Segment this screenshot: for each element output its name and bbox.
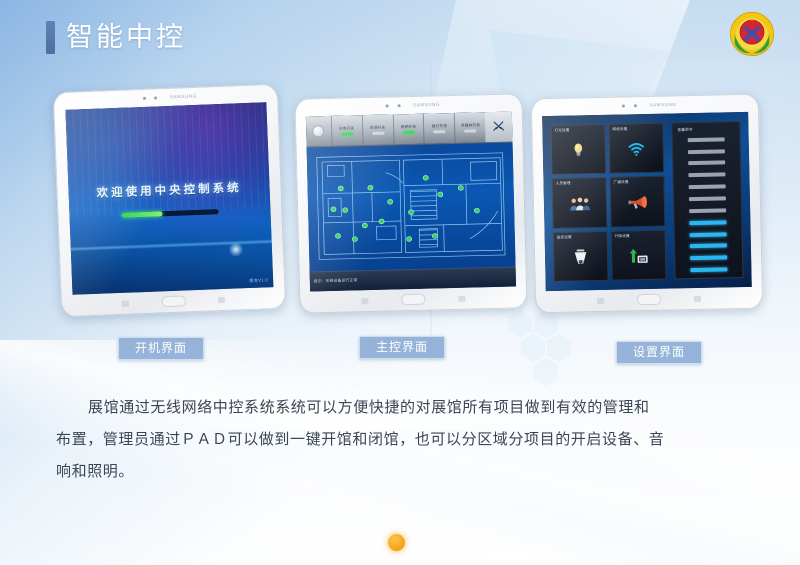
camera-dot xyxy=(622,104,625,107)
volume-segment[interactable] xyxy=(690,220,726,225)
people-icon xyxy=(569,195,591,211)
caption-main-control: 主控界面 xyxy=(359,336,445,359)
floorplan-map[interactable] xyxy=(313,147,509,267)
back-key[interactable] xyxy=(694,296,701,302)
volume-segment[interactable] xyxy=(688,137,724,142)
tab-label: 总电开关 xyxy=(339,126,355,132)
floorplan-svg xyxy=(313,147,509,267)
boot-spark-icon xyxy=(227,241,244,258)
home-button[interactable] xyxy=(401,294,425,306)
camera-icon xyxy=(571,248,590,265)
tile-label: 人员管理 xyxy=(556,181,571,187)
footer-left-text: 平安交通 xyxy=(265,530,385,555)
tab-indicator xyxy=(434,130,446,133)
volume-segment[interactable] xyxy=(690,244,726,249)
paragraph-line-3: 响和照明。 xyxy=(56,464,134,480)
volume-segment[interactable] xyxy=(688,149,724,154)
tablet-screen[interactable]: 欢迎使用中央控制系统 版本V1.0 xyxy=(65,102,273,295)
traffic-police-emblem-icon: 中国交 xyxy=(728,10,776,58)
volume-segment[interactable] xyxy=(689,173,725,178)
tab-multimedia[interactable]: 多媒体开关 xyxy=(454,112,486,142)
recent-apps-key[interactable] xyxy=(597,298,604,304)
light-bulb-icon xyxy=(570,141,587,158)
sensor-dot xyxy=(154,96,157,99)
settings-layout: 灯光设置 网络设置 xyxy=(551,121,744,282)
svg-text:中: 中 xyxy=(743,18,747,23)
volume-panel-label: 音量调节 xyxy=(677,126,728,132)
back-key[interactable] xyxy=(218,297,225,303)
tab-lighting[interactable]: 照明开关 xyxy=(392,114,424,144)
tablet-screen[interactable]: 总电开关 空调开关 照明开关 射灯开关 多媒体开关 xyxy=(306,112,516,292)
tablet-screen[interactable]: 灯光设置 网络设置 xyxy=(542,112,752,291)
svg-text:交: 交 xyxy=(757,18,761,23)
sensor-dot xyxy=(634,104,637,107)
tab-master-power[interactable]: 总电开关 xyxy=(331,115,363,145)
tablet-main-control[interactable]: SAMSUNG 总电开关 空调开关 照明开关 射灯开关 xyxy=(294,93,527,314)
tile-surveillance-settings[interactable]: 监控设置 xyxy=(553,231,609,283)
tablet-settings[interactable]: SAMSUNG 灯光设置 xyxy=(531,94,763,314)
tile-light-settings[interactable]: 灯光设置 xyxy=(551,124,607,176)
tile-network-settings[interactable]: 网络设置 xyxy=(609,122,665,174)
tab-indicator xyxy=(341,133,353,136)
tile-personnel-management[interactable]: 人员管理 xyxy=(552,177,608,229)
back-key[interactable] xyxy=(459,296,466,302)
home-button[interactable] xyxy=(161,295,185,307)
tab-indicator xyxy=(465,130,477,133)
background-hexagons xyxy=(500,300,620,390)
recent-apps-key[interactable] xyxy=(361,298,368,304)
footer-dot-icon xyxy=(388,534,405,551)
lift-icon xyxy=(629,246,649,263)
page-header: 智能中控 中国交 xyxy=(0,0,800,70)
tab-indicator xyxy=(403,131,415,134)
wifi-icon xyxy=(627,139,646,158)
tablet-bottom-bezel xyxy=(535,287,763,314)
tile-lift-settings[interactable]: 升降设置 xyxy=(611,229,667,281)
volume-segment[interactable] xyxy=(690,232,726,237)
recent-apps-key[interactable] xyxy=(122,301,129,307)
tile-label: 监控设置 xyxy=(557,234,572,240)
page-title: 智能中控 xyxy=(66,20,186,54)
sensor-dot xyxy=(397,104,400,107)
main-control-toolbar[interactable]: 总电开关 空调开关 照明开关 射灯开关 多媒体开关 xyxy=(306,112,513,148)
app-logo-icon xyxy=(306,116,331,146)
tab-label: 多媒体开关 xyxy=(461,123,480,129)
tablet-bottom-bezel xyxy=(299,286,527,314)
tile-label: 灯光设置 xyxy=(555,127,570,133)
body-paragraph: 展馆通过无线网络中控系统系统可以方便快捷的对展馆所有项目做到有效的管理和 布置，… xyxy=(56,392,750,488)
boot-version-label: 版本V1.0 xyxy=(249,277,268,284)
tab-label: 照明开关 xyxy=(401,124,417,130)
volume-segment[interactable] xyxy=(689,208,725,213)
title-accent-bar xyxy=(46,21,55,54)
status-text: 提示：系统设备运行正常 xyxy=(314,278,358,285)
volume-panel[interactable]: 音量调节 xyxy=(671,121,743,280)
settings-tile-grid: 灯光设置 网络设置 xyxy=(551,122,667,282)
megaphone-icon xyxy=(627,193,649,209)
caption-boot-screen: 开机界面 xyxy=(118,337,204,360)
volume-segment[interactable] xyxy=(689,185,725,190)
tab-label: 射灯开关 xyxy=(432,123,448,129)
slide-root: 智能中控 中国交 SAMSUNG xyxy=(0,0,800,565)
tile-label: 网络设置 xyxy=(613,126,628,132)
tablet-brand-label: SAMSUNG xyxy=(413,102,440,108)
paragraph-line-1: 展馆通过无线网络中控系统系统可以方便快捷的对展馆所有项目做到有效的管理和 xyxy=(88,400,650,416)
tile-label: 广播设置 xyxy=(614,180,629,186)
footer-watermark: 平安交通文明出行 xyxy=(0,525,800,557)
volume-slider[interactable] xyxy=(678,135,738,275)
volume-segment[interactable] xyxy=(690,256,726,261)
volume-segment[interactable] xyxy=(691,268,727,273)
tablet-brand-label: SAMSUNG xyxy=(170,93,197,99)
svg-text:国: 国 xyxy=(750,16,754,21)
tab-indicator xyxy=(372,132,384,135)
footer-right-text: 文明出行 xyxy=(415,530,535,555)
tools-icon[interactable] xyxy=(485,112,512,142)
tablet-brand-label: SAMSUNG xyxy=(649,102,676,108)
tablet-boot-screen[interactable]: SAMSUNG 欢迎使用中央控制系统 版本V1.0 xyxy=(53,84,286,317)
volume-segment[interactable] xyxy=(688,161,724,166)
caption-settings: 设置界面 xyxy=(616,341,702,364)
tile-broadcast-settings[interactable]: 广播设置 xyxy=(610,176,666,228)
home-button[interactable] xyxy=(637,294,661,306)
tile-label: 升降设置 xyxy=(615,233,630,239)
tab-air-conditioning[interactable]: 空调开关 xyxy=(361,114,393,144)
volume-segment[interactable] xyxy=(689,196,725,201)
tab-label: 空调开关 xyxy=(370,125,386,131)
camera-dot xyxy=(386,105,389,108)
paragraph-line-2: 布置，管理员通过ＰＡＤ可以做到一键开馆和闭馆，也可以分区域分项目的开启设备、音 xyxy=(56,432,664,448)
tab-spotlight[interactable]: 射灯开关 xyxy=(423,113,455,143)
camera-dot xyxy=(143,97,146,100)
